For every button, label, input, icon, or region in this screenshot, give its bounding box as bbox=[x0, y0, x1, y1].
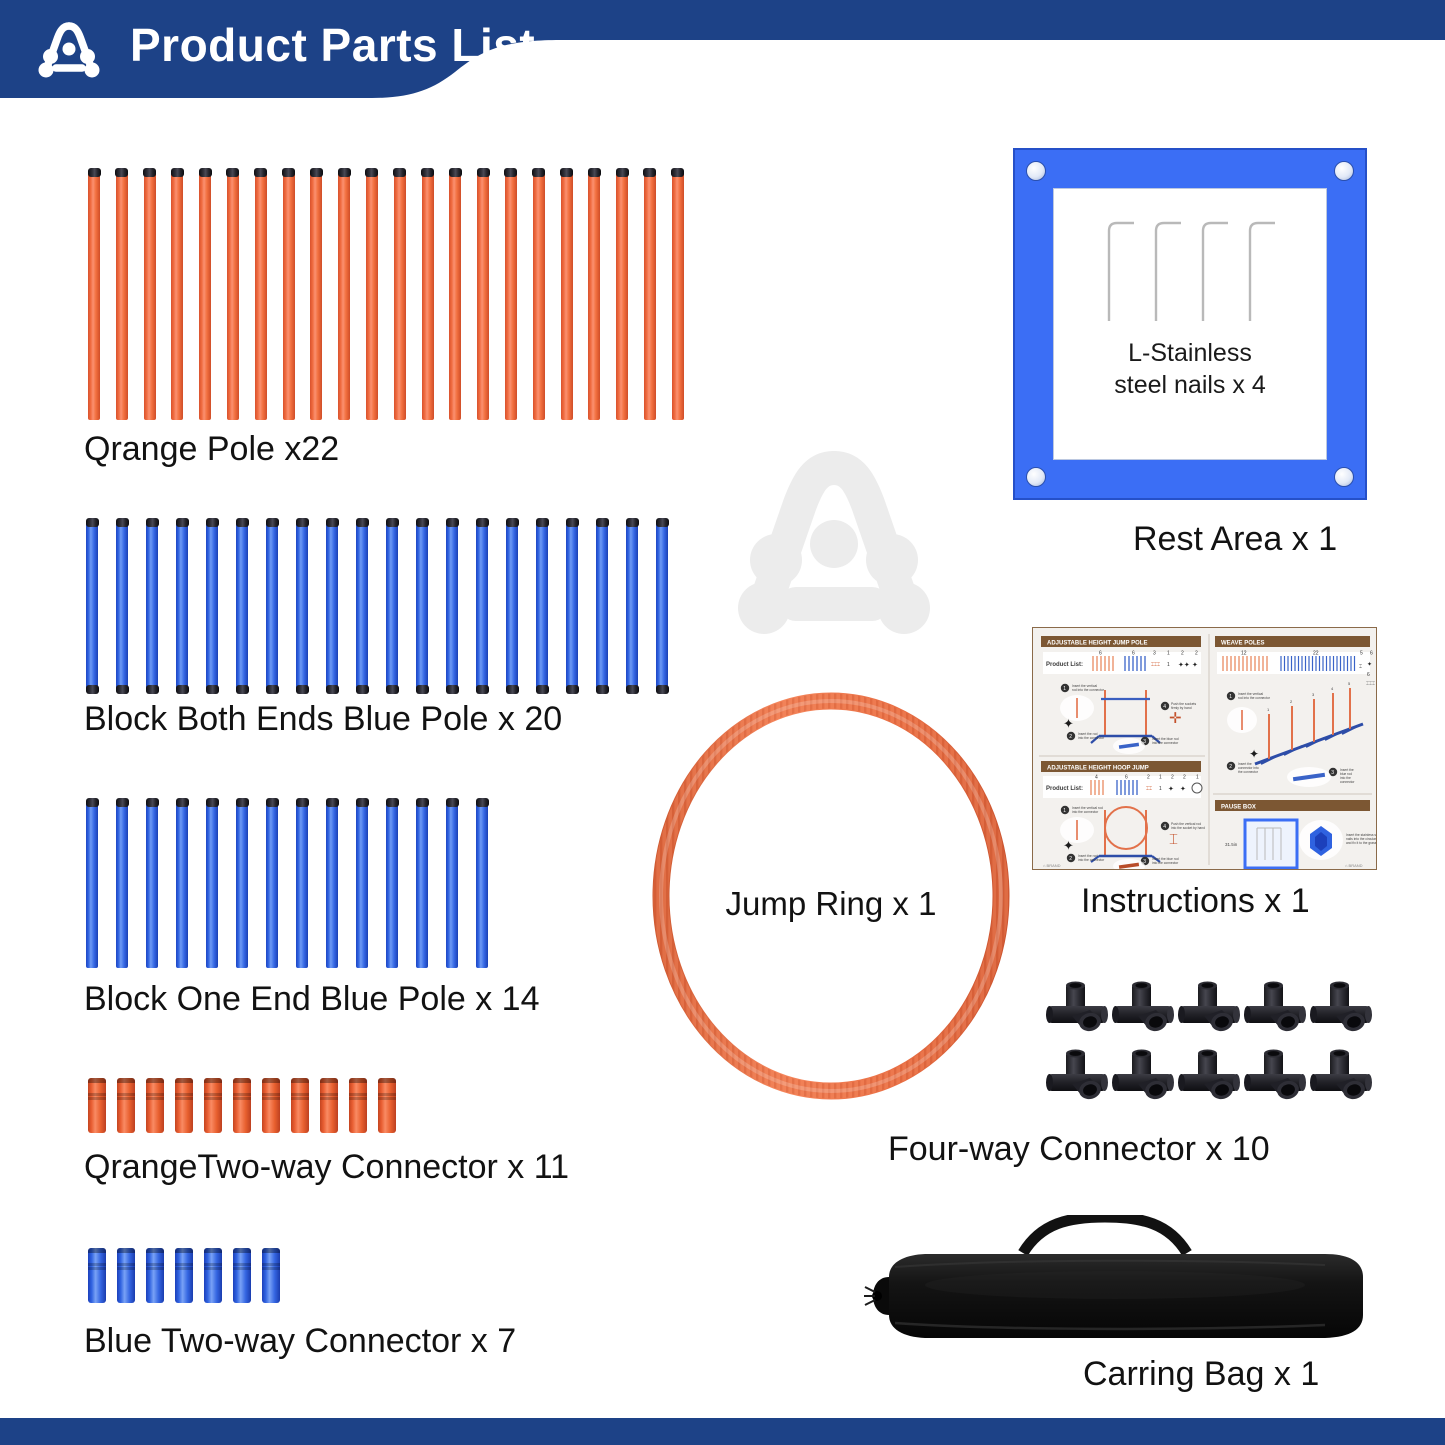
rest-area-mat: L-Stainless steel nails x 4 bbox=[1013, 148, 1367, 500]
svg-text:1: 1 bbox=[1167, 662, 1170, 668]
connector-ridge bbox=[291, 1097, 309, 1100]
four-way-connector-label: Four-way Connector x 10 bbox=[888, 1130, 1270, 1169]
pole-shaft bbox=[199, 170, 211, 420]
pole-cap-bottom bbox=[446, 685, 459, 694]
blue-pole-item bbox=[416, 520, 428, 692]
pole-cap-top bbox=[365, 168, 378, 177]
blue-pole-one-end-label: Block One End Blue Pole x 14 bbox=[84, 980, 540, 1019]
pole-cap-bottom bbox=[416, 685, 429, 694]
svg-text:and fix it to the grass: and fix it to the grass bbox=[1346, 841, 1377, 845]
pole-shaft bbox=[476, 800, 488, 968]
blue-pole-item bbox=[506, 520, 518, 692]
pole-cap-top bbox=[176, 798, 189, 807]
orange-pole-item bbox=[116, 170, 128, 420]
pole-cap-bottom bbox=[86, 685, 99, 694]
blue-two-way-connector-item bbox=[175, 1248, 193, 1303]
pole-shaft bbox=[449, 170, 461, 420]
connector-tip bbox=[262, 1248, 280, 1253]
blue-two-way-connector-item bbox=[204, 1248, 222, 1303]
blue-two-way-connector-label: Blue Two-way Connector x 7 bbox=[84, 1322, 516, 1361]
pole-cap-bottom bbox=[476, 685, 489, 694]
jump-ring-label: Jump Ring x 1 bbox=[648, 885, 1014, 923]
connector-ridge bbox=[349, 1097, 367, 1100]
svg-text:6: 6 bbox=[1367, 672, 1370, 678]
connector-tip bbox=[88, 1078, 106, 1083]
four-way-connector-item bbox=[1178, 980, 1244, 1048]
four-way-connector-item bbox=[1046, 980, 1112, 1048]
four-way-connector-icon bbox=[1046, 980, 1108, 1044]
blue-pole-item bbox=[356, 800, 368, 968]
pole-shaft bbox=[588, 170, 600, 420]
pole-shaft bbox=[672, 170, 684, 420]
pole-cap-bottom bbox=[326, 685, 339, 694]
orange-pole-group bbox=[88, 170, 684, 420]
svg-text:3: 3 bbox=[1153, 651, 1156, 657]
svg-text:✛: ✛ bbox=[1169, 710, 1182, 727]
four-way-connector-item bbox=[1244, 980, 1310, 1048]
instructions-label: Instructions x 1 bbox=[1081, 882, 1310, 921]
connector-ridge bbox=[233, 1263, 251, 1266]
orange-pole-item bbox=[199, 170, 211, 420]
connector-ridge bbox=[320, 1097, 338, 1100]
connector-tip bbox=[204, 1248, 222, 1253]
rocket-a-logo-watermark-icon bbox=[718, 438, 950, 670]
pole-cap-top bbox=[326, 518, 339, 527]
connector-tip bbox=[320, 1078, 338, 1083]
connector-ridge bbox=[88, 1097, 106, 1100]
pole-cap-top bbox=[656, 518, 669, 527]
svg-text:5: 5 bbox=[1360, 651, 1363, 657]
four-way-connector-item bbox=[1178, 1048, 1244, 1116]
connector-ridge bbox=[146, 1263, 164, 1266]
pole-shaft bbox=[536, 520, 548, 692]
pole-cap-top bbox=[477, 168, 490, 177]
orange-two-way-connector-item bbox=[146, 1078, 164, 1133]
rest-area-inner-panel: L-Stainless steel nails x 4 bbox=[1053, 188, 1327, 460]
pole-cap-bottom bbox=[266, 685, 279, 694]
pole-shaft bbox=[116, 170, 128, 420]
pole-cap-bottom bbox=[386, 685, 399, 694]
pole-shaft bbox=[626, 520, 638, 692]
pole-shaft bbox=[656, 520, 668, 692]
pole-cap-bottom bbox=[356, 685, 369, 694]
orange-pole-item bbox=[672, 170, 684, 420]
orange-pole-label: Qrange Pole x22 bbox=[84, 430, 339, 469]
pole-cap-top bbox=[356, 518, 369, 527]
pole-cap-top bbox=[116, 518, 129, 527]
connector-ridge bbox=[378, 1097, 396, 1100]
pole-cap-top bbox=[566, 518, 579, 527]
pole-cap-top bbox=[266, 798, 279, 807]
pole-shaft bbox=[227, 170, 239, 420]
connector-ridge bbox=[175, 1267, 193, 1270]
blue-two-way-connector-item bbox=[262, 1248, 280, 1303]
l-nail-icon bbox=[1152, 217, 1182, 323]
orange-pole-item bbox=[616, 170, 628, 420]
connector-tip bbox=[146, 1248, 164, 1253]
svg-text:into the connector: into the connector bbox=[1152, 741, 1179, 745]
svg-text:✦: ✦ bbox=[1168, 785, 1174, 793]
svg-text:Product List:: Product List: bbox=[1046, 662, 1083, 668]
svg-text:Product List:: Product List: bbox=[1046, 786, 1083, 792]
connector-ridge bbox=[88, 1263, 106, 1266]
connector-ridge bbox=[146, 1093, 164, 1096]
connector-ridge bbox=[88, 1093, 106, 1096]
svg-text:4: 4 bbox=[1163, 704, 1166, 710]
pole-cap-bottom bbox=[506, 685, 519, 694]
svg-text:⌶⌶⌶: ⌶⌶⌶ bbox=[1151, 662, 1160, 668]
svg-text:2: 2 bbox=[1183, 775, 1186, 781]
pole-cap-top bbox=[88, 168, 101, 177]
svg-text:2: 2 bbox=[1195, 651, 1198, 657]
pole-cap-top bbox=[386, 518, 399, 527]
four-way-connector-icon bbox=[1244, 980, 1306, 1044]
svg-text:rod into the connector: rod into the connector bbox=[1072, 688, 1105, 692]
blue-pole-item bbox=[236, 520, 248, 692]
pole-cap-top bbox=[671, 168, 684, 177]
connector-ridge bbox=[204, 1263, 222, 1266]
connector-ridge bbox=[204, 1093, 222, 1096]
l-nails-caption-line1: L-Stainless bbox=[1114, 337, 1265, 369]
svg-text:into the connector: into the connector bbox=[1078, 736, 1105, 740]
connector-ridge bbox=[291, 1093, 309, 1096]
pole-shaft bbox=[176, 520, 188, 692]
svg-text:into the socket by hand: into the socket by hand bbox=[1171, 826, 1205, 830]
svg-text:1: 1 bbox=[1063, 686, 1066, 692]
connector-tip bbox=[117, 1078, 135, 1083]
pole-shaft bbox=[416, 520, 428, 692]
pole-cap-bottom bbox=[626, 685, 639, 694]
blue-pole-item bbox=[146, 800, 158, 968]
pole-shaft bbox=[416, 800, 428, 968]
four-way-connector-item bbox=[1112, 1048, 1178, 1116]
orange-two-way-connector-label: QrangeTwo-way Connector x 11 bbox=[84, 1148, 569, 1187]
pole-shaft bbox=[506, 520, 518, 692]
four-way-connector-icon bbox=[1244, 1048, 1306, 1112]
pole-cap-top bbox=[86, 798, 99, 807]
blue-pole-item bbox=[116, 800, 128, 968]
pole-cap-bottom bbox=[176, 685, 189, 694]
blue-pole-item bbox=[356, 520, 368, 692]
four-way-connector-icon bbox=[1310, 980, 1372, 1044]
pole-shaft bbox=[146, 800, 158, 968]
pole-cap-top bbox=[143, 168, 156, 177]
svg-text:1: 1 bbox=[1196, 775, 1199, 781]
blue-pole-item bbox=[566, 520, 578, 692]
blue-pole-item bbox=[116, 520, 128, 692]
pole-shaft bbox=[596, 520, 608, 692]
four-way-connector-icon bbox=[1178, 1048, 1240, 1112]
orange-two-way-connector-item bbox=[291, 1078, 309, 1133]
pole-cap-top bbox=[86, 518, 99, 527]
orange-pole-item bbox=[505, 170, 517, 420]
orange-pole-item bbox=[310, 170, 322, 420]
orange-pole-item bbox=[366, 170, 378, 420]
blue-pole-item bbox=[176, 800, 188, 968]
four-way-connector-item bbox=[1112, 980, 1178, 1048]
blue-pole-both-ends-label: Block Both Ends Blue Pole x 20 bbox=[84, 700, 562, 739]
svg-text:into the connector: into the connector bbox=[1078, 858, 1105, 862]
blue-two-way-connector-item bbox=[117, 1248, 135, 1303]
pole-shaft bbox=[356, 520, 368, 692]
connector-ridge bbox=[204, 1267, 222, 1270]
connector-tip bbox=[349, 1078, 367, 1083]
l-nails-caption: L-Stainless steel nails x 4 bbox=[1114, 337, 1265, 401]
pole-shaft bbox=[144, 170, 156, 420]
pole-cap-top bbox=[171, 168, 184, 177]
pole-cap-top bbox=[282, 168, 295, 177]
pole-shaft bbox=[146, 520, 158, 692]
blue-two-way-connector-item bbox=[88, 1248, 106, 1303]
pole-shaft bbox=[394, 170, 406, 420]
blue-pole-item bbox=[146, 520, 158, 692]
connector-tip bbox=[175, 1078, 193, 1083]
pole-cap-top bbox=[393, 168, 406, 177]
pole-shaft bbox=[446, 800, 458, 968]
four-way-connector-icon bbox=[1112, 980, 1174, 1044]
pole-cap-top bbox=[532, 168, 545, 177]
svg-text:4: 4 bbox=[1095, 775, 1098, 781]
pole-shaft bbox=[356, 800, 368, 968]
connector-tip bbox=[175, 1248, 193, 1253]
svg-text:31.5in: 31.5in bbox=[1225, 842, 1238, 847]
blue-pole-one-end-group bbox=[86, 800, 488, 968]
pole-cap-top bbox=[206, 518, 219, 527]
four-way-connector-item bbox=[1046, 1048, 1112, 1116]
pole-cap-top bbox=[296, 798, 309, 807]
blue-pole-item bbox=[86, 520, 98, 692]
pole-cap-top bbox=[421, 168, 434, 177]
pole-shaft bbox=[386, 800, 398, 968]
connector-ridge bbox=[233, 1097, 251, 1100]
grommet-icon bbox=[1026, 467, 1046, 487]
blue-pole-item bbox=[626, 520, 638, 692]
svg-text:⌶: ⌶ bbox=[1359, 664, 1362, 670]
pole-shaft bbox=[266, 800, 278, 968]
pole-cap-top bbox=[115, 168, 128, 177]
four-way-connector-item bbox=[1310, 1048, 1376, 1116]
pole-cap-top bbox=[310, 168, 323, 177]
connector-ridge bbox=[175, 1093, 193, 1096]
pole-cap-top bbox=[266, 518, 279, 527]
blue-two-way-connector-item bbox=[233, 1248, 251, 1303]
grommet-icon bbox=[1334, 161, 1354, 181]
pole-cap-top bbox=[176, 518, 189, 527]
connector-ridge bbox=[117, 1267, 135, 1270]
pole-shaft bbox=[561, 170, 573, 420]
pole-cap-top bbox=[449, 168, 462, 177]
pole-shaft bbox=[326, 520, 338, 692]
orange-two-way-connector-item bbox=[175, 1078, 193, 1133]
pole-cap-top bbox=[356, 798, 369, 807]
pole-shaft bbox=[296, 800, 308, 968]
svg-text:4: 4 bbox=[1163, 824, 1166, 830]
blue-pole-item bbox=[386, 800, 398, 968]
svg-text:2: 2 bbox=[1229, 764, 1232, 770]
four-way-connector-icon bbox=[1112, 1048, 1174, 1112]
pole-cap-top bbox=[446, 798, 459, 807]
connector-tip bbox=[204, 1078, 222, 1083]
pole-cap-top bbox=[146, 518, 159, 527]
pole-shaft bbox=[266, 520, 278, 692]
blue-pole-item bbox=[596, 520, 608, 692]
l-nail-icon bbox=[1246, 217, 1276, 323]
orange-pole-item bbox=[449, 170, 461, 420]
svg-text:6: 6 bbox=[1099, 651, 1102, 657]
pole-shaft bbox=[310, 170, 322, 420]
svg-text:2: 2 bbox=[1069, 856, 1072, 862]
pole-shaft bbox=[566, 520, 578, 692]
pole-shaft bbox=[88, 170, 100, 420]
orange-two-way-connector-item bbox=[378, 1078, 396, 1133]
rocket-a-logo-icon bbox=[32, 16, 106, 90]
pole-shaft bbox=[505, 170, 517, 420]
l-nail-icon bbox=[1199, 217, 1229, 323]
connector-ridge bbox=[320, 1093, 338, 1096]
orange-two-way-connector-item bbox=[262, 1078, 280, 1133]
pole-shaft bbox=[477, 170, 489, 420]
svg-text:6: 6 bbox=[1370, 651, 1373, 657]
pole-cap-bottom bbox=[236, 685, 249, 694]
pole-cap-top bbox=[416, 798, 429, 807]
pole-cap-top bbox=[616, 168, 629, 177]
svg-text:WEAVE POLES: WEAVE POLES bbox=[1221, 641, 1265, 647]
pole-cap-bottom bbox=[566, 685, 579, 694]
grommet-icon bbox=[1026, 161, 1046, 181]
pole-cap-top bbox=[504, 168, 517, 177]
connector-tip bbox=[378, 1078, 396, 1083]
svg-text:22: 22 bbox=[1313, 651, 1319, 657]
l-nail-icon bbox=[1105, 217, 1135, 323]
pole-cap-top bbox=[560, 168, 573, 177]
footer-bar bbox=[0, 1418, 1445, 1445]
pole-shaft bbox=[616, 170, 628, 420]
svg-text:ADJUSTABLE HEIGHT HOOP JUMP: ADJUSTABLE HEIGHT HOOP JUMP bbox=[1047, 766, 1149, 772]
connector-ridge bbox=[146, 1097, 164, 1100]
orange-two-way-connector-item bbox=[117, 1078, 135, 1133]
blue-pole-item bbox=[386, 520, 398, 692]
pole-shaft bbox=[206, 520, 218, 692]
four-way-connector-icon bbox=[1046, 1048, 1108, 1112]
svg-text:into the connector: into the connector bbox=[1072, 810, 1099, 814]
blue-two-way-connector-item bbox=[146, 1248, 164, 1303]
svg-text:⌂ BRAND: ⌂ BRAND bbox=[1345, 863, 1363, 868]
blue-pole-item bbox=[176, 520, 188, 692]
orange-pole-item bbox=[533, 170, 545, 420]
pole-shaft bbox=[176, 800, 188, 968]
orange-pole-item bbox=[88, 170, 100, 420]
blue-pole-item bbox=[206, 800, 218, 968]
pole-cap-top bbox=[236, 518, 249, 527]
pole-cap-top bbox=[206, 798, 219, 807]
orange-pole-item bbox=[422, 170, 434, 420]
grommet-icon bbox=[1334, 467, 1354, 487]
pole-cap-top bbox=[643, 168, 656, 177]
connector-ridge bbox=[146, 1267, 164, 1270]
svg-text:✦✦: ✦✦ bbox=[1178, 661, 1190, 669]
pole-cap-top bbox=[226, 168, 239, 177]
connector-ridge bbox=[175, 1263, 193, 1266]
connector-ridge bbox=[117, 1097, 135, 1100]
pole-shaft bbox=[366, 170, 378, 420]
pole-shaft bbox=[326, 800, 338, 968]
pole-cap-top bbox=[476, 798, 489, 807]
pole-cap-top bbox=[146, 798, 159, 807]
blue-pole-item bbox=[326, 800, 338, 968]
svg-text:3: 3 bbox=[1331, 770, 1334, 776]
blue-pole-item bbox=[536, 520, 548, 692]
page-title: Product Parts List bbox=[130, 18, 535, 72]
svg-text:1: 1 bbox=[1167, 651, 1170, 657]
rest-area-label: Rest Area x 1 bbox=[1133, 520, 1337, 559]
orange-pole-item bbox=[588, 170, 600, 420]
svg-text:⌶⌶: ⌶⌶ bbox=[1146, 786, 1152, 792]
connector-ridge bbox=[117, 1093, 135, 1096]
connector-ridge bbox=[233, 1267, 251, 1270]
connector-ridge bbox=[262, 1097, 280, 1100]
orange-pole-item bbox=[171, 170, 183, 420]
connector-tip bbox=[291, 1078, 309, 1083]
page-header: Product Parts List bbox=[0, 0, 1445, 108]
orange-pole-item bbox=[477, 170, 489, 420]
pole-shaft bbox=[283, 170, 295, 420]
orange-pole-item bbox=[394, 170, 406, 420]
pole-cap-top bbox=[199, 168, 212, 177]
connector-tip bbox=[233, 1078, 251, 1083]
connector-ridge bbox=[262, 1263, 280, 1266]
four-way-connector-item bbox=[1244, 1048, 1310, 1116]
svg-text:✦: ✦ bbox=[1249, 747, 1259, 761]
pole-cap-top bbox=[116, 798, 129, 807]
carrying-bag-label: Carring Bag x 1 bbox=[1083, 1355, 1319, 1394]
blue-pole-item bbox=[476, 800, 488, 968]
blue-pole-item bbox=[416, 800, 428, 968]
pole-cap-top bbox=[416, 518, 429, 527]
blue-pole-item bbox=[86, 800, 98, 968]
pole-shaft bbox=[171, 170, 183, 420]
svg-text:✦: ✦ bbox=[1192, 661, 1198, 669]
pole-cap-top bbox=[386, 798, 399, 807]
svg-text:into the connector: into the connector bbox=[1152, 861, 1179, 865]
svg-text:rod into the connector: rod into the connector bbox=[1238, 696, 1271, 700]
connector-ridge bbox=[349, 1093, 367, 1096]
pole-cap-bottom bbox=[146, 685, 159, 694]
pole-shaft bbox=[206, 800, 218, 968]
pole-cap-top bbox=[338, 168, 351, 177]
pole-cap-top bbox=[596, 518, 609, 527]
pole-shaft bbox=[446, 520, 458, 692]
svg-text:1: 1 bbox=[1063, 808, 1066, 814]
orange-pole-item bbox=[283, 170, 295, 420]
svg-text:2: 2 bbox=[1069, 734, 1072, 740]
pole-cap-top bbox=[588, 168, 601, 177]
pole-shaft bbox=[236, 520, 248, 692]
blue-pole-item bbox=[326, 520, 338, 692]
pole-shaft bbox=[338, 170, 350, 420]
svg-text:ADJUSTABLE HEIGHT JUMP POLE: ADJUSTABLE HEIGHT JUMP POLE bbox=[1047, 641, 1147, 647]
pole-shaft bbox=[86, 520, 98, 692]
orange-pole-item bbox=[227, 170, 239, 420]
four-way-connector-group bbox=[1046, 980, 1376, 1116]
orange-two-way-connector-item bbox=[88, 1078, 106, 1133]
pole-cap-top bbox=[296, 518, 309, 527]
pole-shaft bbox=[86, 800, 98, 968]
parts-list-page: Product Parts List Qrange Pole x22 Block… bbox=[0, 0, 1445, 1445]
svg-text:✦: ✦ bbox=[1063, 716, 1074, 731]
pole-cap-bottom bbox=[296, 685, 309, 694]
four-way-connector-icon bbox=[1178, 980, 1240, 1044]
connector-ridge bbox=[233, 1093, 251, 1096]
